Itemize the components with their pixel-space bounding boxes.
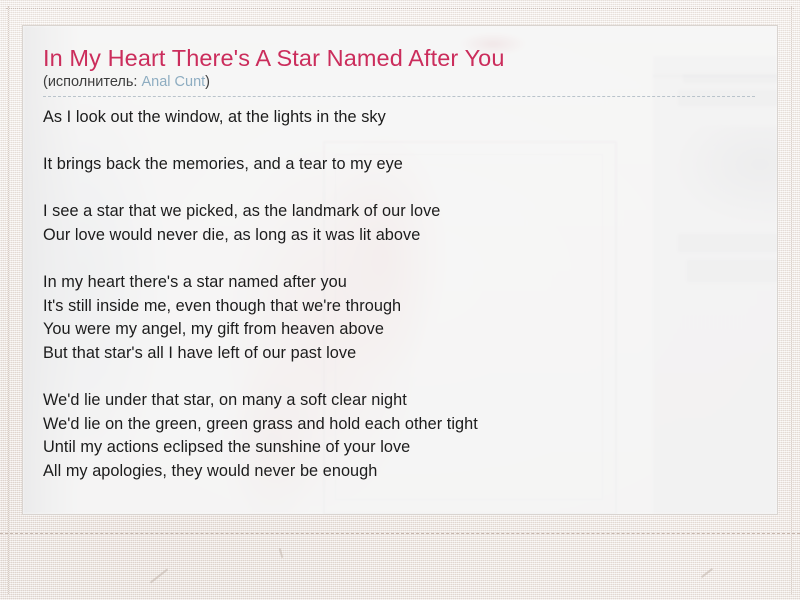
frame-scuff-mark — [150, 568, 169, 583]
frame-scuff-mark — [279, 548, 284, 558]
artist-link[interactable]: Anal Cunt — [141, 74, 205, 90]
frame-trim-top — [6, 8, 794, 9]
byline-divider — [43, 96, 755, 97]
byline: (исполнитель: Anal Cunt) — [43, 73, 755, 92]
frame-divider-rule — [0, 533, 800, 534]
byline-prefix-label: (исполнитель: — [43, 74, 141, 90]
frame-trim-left — [8, 6, 9, 594]
byline-suffix-label: ) — [205, 74, 210, 90]
frame-trim-right — [791, 6, 792, 594]
card-content: In My Heart There's A Star Named After Y… — [23, 26, 777, 514]
page-frame: In My Heart There's A Star Named After Y… — [0, 0, 800, 600]
page-title: In My Heart There's A Star Named After Y… — [43, 44, 755, 72]
lyrics-body: As I look out the window, at the lights … — [43, 106, 755, 484]
lyrics-card: In My Heart There's A Star Named After Y… — [22, 25, 778, 515]
frame-scuff-mark — [701, 568, 713, 578]
